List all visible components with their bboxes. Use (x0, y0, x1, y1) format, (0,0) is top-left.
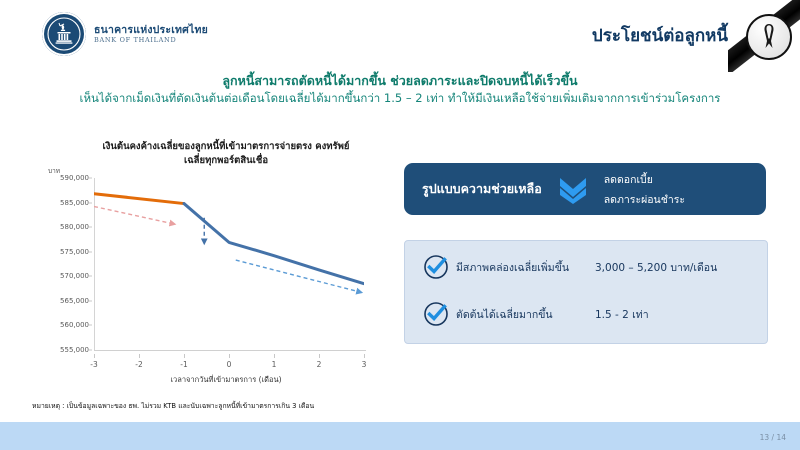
slide-canvas: ธนาคารแห่งประเทศไทย BANK OF THAILAND ประ… (0, 0, 800, 450)
x-axis-tick-label: 0 (227, 360, 232, 369)
y-axis-tick (89, 350, 92, 351)
black-ribbon-icon (746, 14, 792, 60)
y-axis-tick (89, 178, 92, 179)
principal-balance-chart: เงินต้นคงค้างเฉลี่ยของลูกหนี้ที่เข้ามาตร… (36, 140, 386, 390)
y-axis-tick-label: 585,000 (60, 199, 89, 207)
y-axis-tick (89, 227, 92, 228)
bank-of-thailand-seal-icon (42, 12, 86, 56)
x-axis-tick (319, 354, 320, 358)
x-axis-tick-label: 1 (272, 360, 277, 369)
y-axis-tick-label: 580,000 (60, 223, 89, 231)
y-axis-tick-label: 555,000 (60, 346, 89, 354)
benefit-value: 1.5 - 2 เท่า (595, 306, 649, 323)
y-axis-tick-label: 570,000 (60, 272, 89, 280)
benefit-row: ตัดต้นได้เฉลี่ยมากขึ้น 1.5 - 2 เท่า (405, 291, 767, 337)
x-axis-tick-label: 2 (317, 360, 322, 369)
y-axis-tick-label: 560,000 (60, 321, 89, 329)
x-axis-tick (184, 354, 185, 358)
x-axis-tick-label: -1 (180, 360, 187, 369)
footnote: หมายเหตุ : เป็นข้อมูลเฉพาะของ ธพ. ไม่รวม… (32, 400, 314, 411)
y-axis-tick (89, 251, 92, 252)
bank-name-english: BANK OF THAILAND (94, 37, 208, 45)
subtitle-secondary: เห็นได้จากเม็ดเงินที่ตัดเงินต้นต่อเดือนโ… (0, 90, 800, 108)
relief-item: ลดดอกเบี้ย (604, 171, 685, 188)
footer-bar (0, 422, 800, 450)
check-circle-icon (423, 254, 449, 280)
y-axis-tick (89, 325, 92, 326)
subtitle-primary: ลูกหนี้สามารถตัดหนี้ได้มากขึ้น ช่วยลดภาร… (0, 71, 800, 91)
benefits-panel: มีสภาพคล่องเฉลี่ยเพิ่มขึ้น 3,000 – 5,200… (404, 240, 768, 344)
x-axis-tick (94, 354, 95, 358)
y-axis-tick-label: 565,000 (60, 297, 89, 305)
benefit-label: มีสภาพคล่องเฉลี่ยเพิ่มขึ้น (456, 259, 569, 276)
x-axis-tick (274, 354, 275, 358)
y-axis-tick-label: 590,000 (60, 174, 89, 182)
bank-name-thai: ธนาคารแห่งประเทศไทย (94, 24, 208, 36)
chart-series-line (94, 207, 175, 225)
x-axis-tick (364, 354, 365, 358)
relief-header-label: รูปแบบความช่วยเหลือ (422, 179, 542, 199)
y-axis-tick (89, 276, 92, 277)
chart-series-line (94, 194, 184, 204)
double-chevron-down-icon (556, 172, 590, 206)
ribbon-glyph-icon (756, 22, 782, 52)
bank-logo: ธนาคารแห่งประเทศไทย BANK OF THAILAND (42, 12, 208, 56)
chart-title: เงินต้นคงค้างเฉลี่ยของลูกหนี้ที่เข้ามาตร… (66, 140, 386, 168)
relief-measures-header: รูปแบบความช่วยเหลือ ลดดอกเบี้ย ลดภาระผ่อ… (404, 163, 766, 215)
page-number: 13 / 14 (760, 433, 786, 442)
x-axis-tick-label: -2 (135, 360, 142, 369)
x-axis-tick (229, 354, 230, 358)
benefit-value: 3,000 – 5,200 บาท/เดือน (595, 259, 717, 276)
bank-logo-text: ธนาคารแห่งประเทศไทย BANK OF THAILAND (94, 24, 208, 45)
y-axis-tick (89, 300, 92, 301)
chart-series-line (184, 204, 364, 284)
benefit-label: ตัดต้นได้เฉลี่ยมากขึ้น (456, 306, 553, 323)
mourning-ribbon-badge (728, 0, 800, 72)
benefit-row: มีสภาพคล่องเฉลี่ยเพิ่มขึ้น 3,000 – 5,200… (405, 244, 767, 290)
page-title: ประโยชน์ต่อลูกหนี้ (592, 22, 728, 49)
x-axis-title: เวลาจากวันที่เข้ามาตรการ (เดือน) (66, 374, 386, 386)
check-circle-icon (423, 301, 449, 327)
x-axis-tick (139, 354, 140, 358)
x-axis-tick-label: 3 (362, 360, 367, 369)
chart-plot-area (94, 178, 364, 350)
chart-title-line2: เฉลี่ยทุกพอร์ตสินเชื่อ (66, 154, 386, 168)
seal-figure-icon (47, 17, 81, 51)
x-axis-tick-label: -3 (90, 360, 97, 369)
y-axis-tick (89, 202, 92, 203)
x-axis-line (94, 350, 366, 351)
y-axis-tick-label: 575,000 (60, 248, 89, 256)
relief-items-list: ลดดอกเบี้ย ลดภาระผ่อนชำระ (604, 171, 685, 208)
y-axis-labels: 590,000585,000580,000575,000570,000565,0… (36, 172, 92, 356)
x-axis-labels: -3-2-10123 (94, 354, 364, 374)
relief-item: ลดภาระผ่อนชำระ (604, 191, 685, 208)
chart-title-line1: เงินต้นคงค้างเฉลี่ยของลูกหนี้ที่เข้ามาตร… (66, 140, 386, 154)
